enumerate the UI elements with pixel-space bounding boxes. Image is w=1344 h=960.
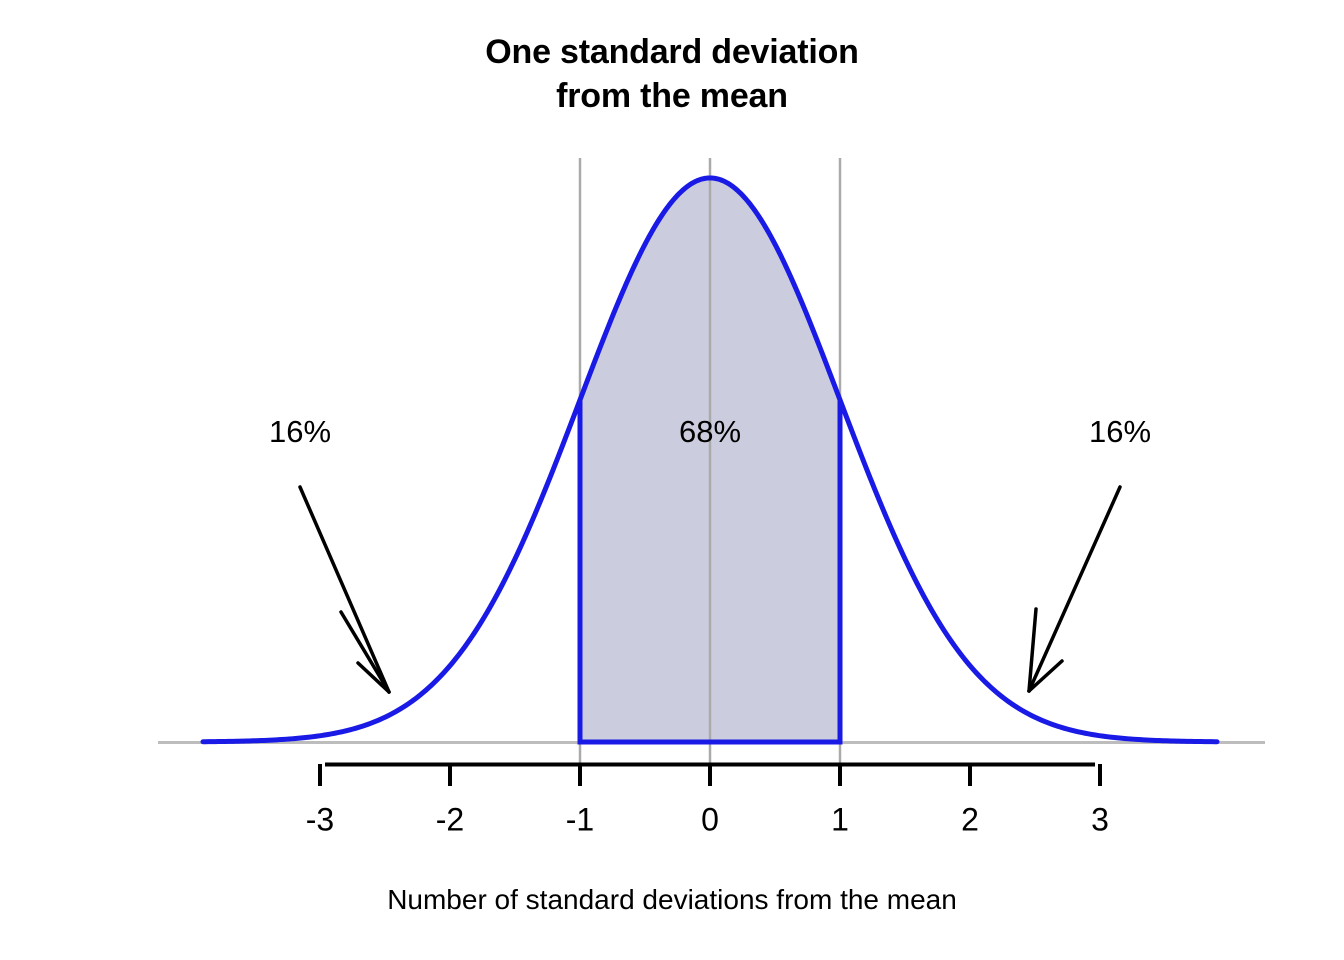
tick-label-3: 3: [1091, 802, 1109, 839]
tick-label-2: 2: [961, 802, 979, 839]
tick-label--2: -2: [436, 802, 464, 839]
tick-label-0: 0: [701, 802, 719, 839]
arrow-left-tail: [300, 487, 389, 692]
normal-curve-plot: [0, 0, 1344, 960]
axis-tickmarks: [320, 764, 1100, 786]
arrow-right-tail: [1029, 487, 1120, 691]
annotation-label-right-tail: 16%: [1089, 414, 1151, 450]
tick-label-1: 1: [831, 802, 849, 839]
x-axis: [320, 764, 1100, 786]
x-axis-title: Number of standard deviations from the m…: [0, 884, 1344, 916]
chart-figure: One standard deviation from the mean: [0, 0, 1344, 960]
annotation-label-left-tail: 16%: [269, 414, 331, 450]
tick-label--1: -1: [566, 802, 594, 839]
annotation-label-center: 68%: [679, 414, 741, 450]
tick-label--3: -3: [306, 802, 334, 839]
